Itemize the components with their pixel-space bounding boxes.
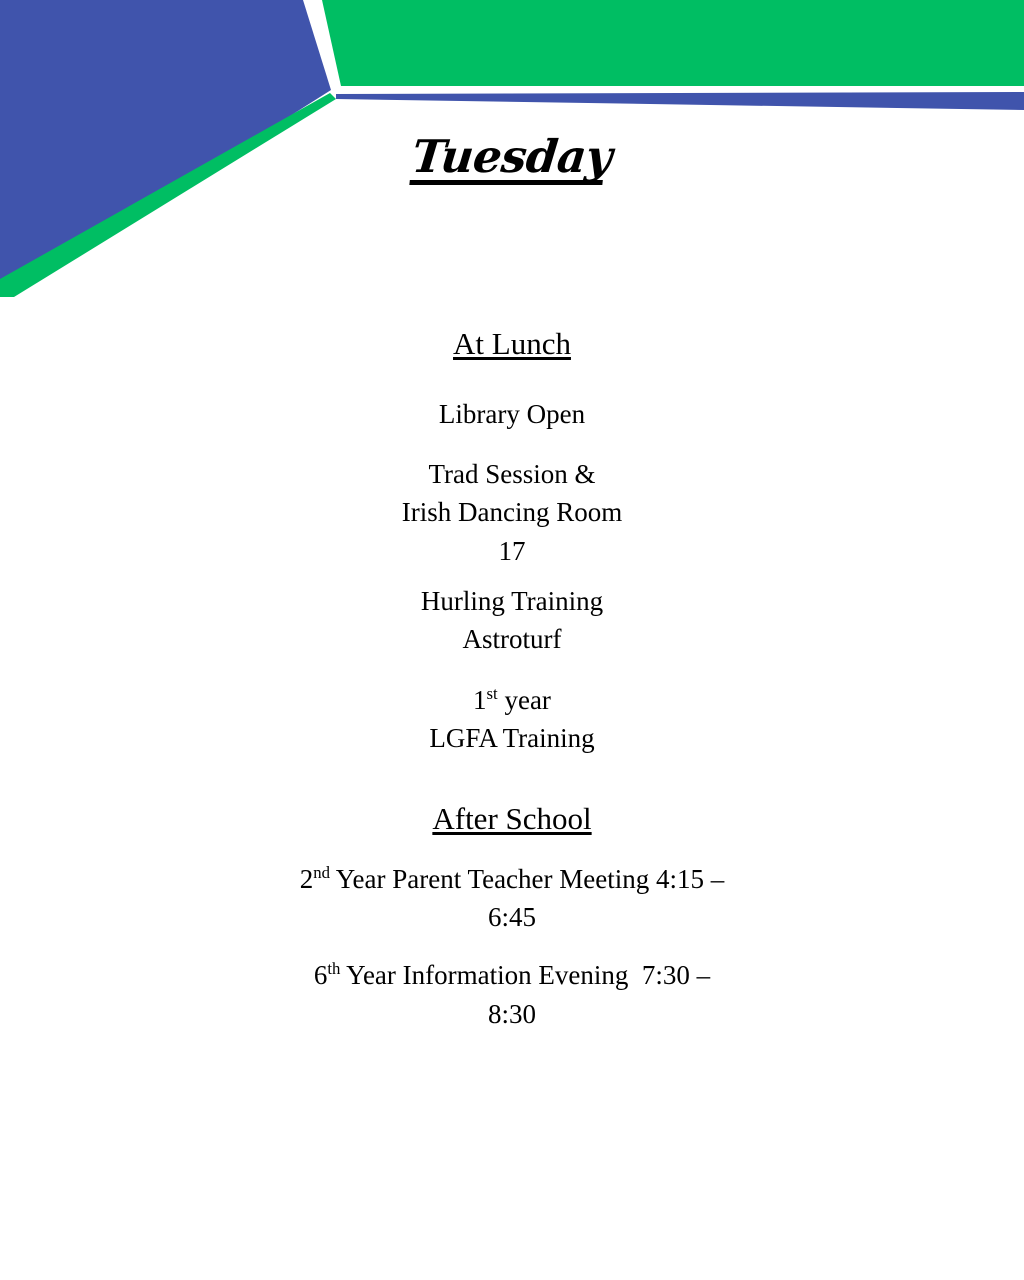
entry-line: Trad Session &: [112, 455, 912, 493]
green-stripe-diagonal-left: [0, 93, 336, 297]
spacer: [112, 570, 912, 582]
entry-library-open: Library Open: [112, 395, 912, 433]
ordinal-rest: Year Parent Teacher Meeting 4:15 –: [330, 864, 724, 894]
ordinal-suffix: st: [487, 684, 498, 703]
entry-line: Hurling Training: [112, 582, 912, 620]
entry-line-room-number: 17: [112, 532, 912, 570]
spacer: [112, 659, 912, 681]
section-heading-after-school-label: After School: [432, 801, 591, 836]
entry-trad-session: Trad Session & Irish Dancing Room 17: [112, 455, 912, 570]
entry-line-ptm-end: 6:45: [112, 898, 912, 936]
ordinal-suffix: th: [327, 959, 340, 978]
spacer: [112, 433, 912, 455]
entry-line-info-evening: 6th Year Information Evening 7:30 –: [112, 956, 912, 994]
entry-line: Irish Dancing Room: [112, 493, 912, 531]
entry-line-first-year: 1st year: [112, 681, 912, 719]
entry-lgfa-training: 1st year LGFA Training: [112, 681, 912, 758]
ordinal-number: 2: [300, 864, 314, 894]
entry-hurling-training: Hurling Training Astroturf: [112, 582, 912, 659]
spacer: [112, 838, 912, 860]
entry-line-ptm: 2nd Year Parent Teacher Meeting 4:15 –: [112, 860, 912, 898]
green-band-top-right: [322, 0, 1024, 86]
spacer: [112, 757, 912, 801]
section-heading-at-lunch-label: At Lunch: [453, 326, 571, 361]
ordinal-rest: year: [498, 685, 551, 715]
spacer: [112, 363, 912, 395]
blue-stripe-horizontal-right: [336, 92, 1024, 110]
entry-information-evening: 6th Year Information Evening 7:30 – 8:30: [112, 956, 912, 1033]
spacer: [112, 936, 912, 956]
entry-line: Astroturf: [112, 620, 912, 658]
page-title: Tuesday: [0, 134, 1024, 185]
entry-line-info-evening-end: 8:30: [112, 995, 912, 1033]
entry-line: LGFA Training: [112, 719, 912, 757]
ordinal-number: 1: [473, 685, 487, 715]
ordinal-number: 6: [314, 960, 328, 990]
section-heading-after-school: After School: [112, 801, 912, 838]
entry-parent-teacher-meeting: 2nd Year Parent Teacher Meeting 4:15 – 6…: [112, 860, 912, 937]
ordinal-rest: Year Information Evening 7:30 –: [340, 960, 710, 990]
page-title-text: Tuesday: [408, 134, 617, 185]
notices-content: At Lunch Library Open Trad Session & Iri…: [112, 326, 912, 1033]
entry-line: Library Open: [112, 395, 912, 433]
ordinal-suffix: nd: [313, 863, 330, 882]
section-heading-at-lunch: At Lunch: [112, 326, 912, 363]
